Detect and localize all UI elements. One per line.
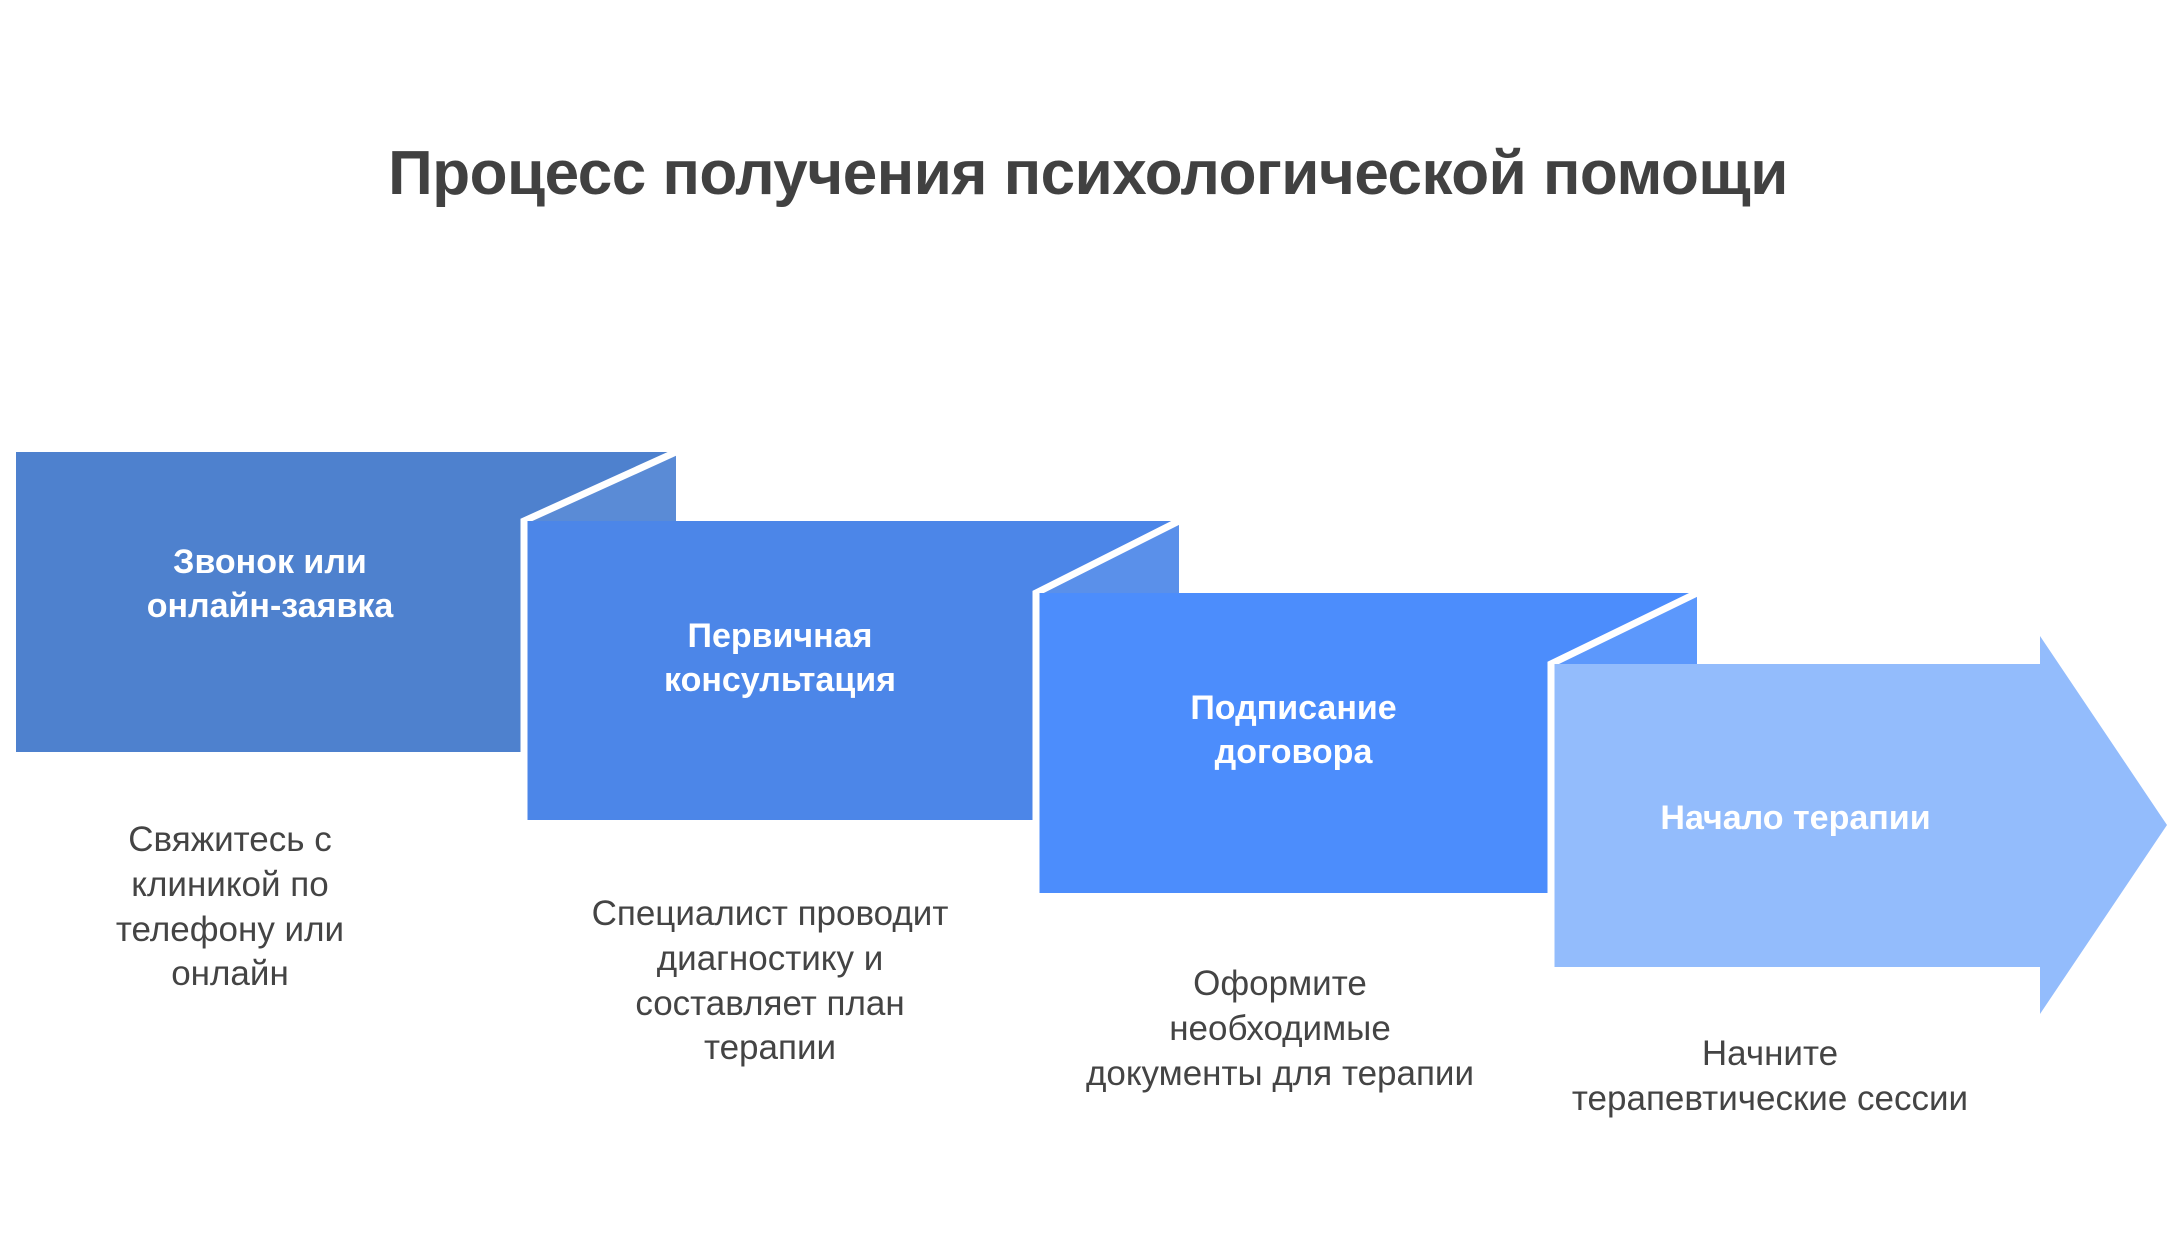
process-step-2-caption: Специалист проводит диагностику и состав…	[570, 892, 970, 1071]
process-step-1-caption: Свяжитесь с клиникой по телефону или онл…	[60, 818, 400, 997]
step-4-arrow-body	[1551, 636, 2167, 1014]
process-diagram: Звонок или онлайн-заявка Первичная консу…	[0, 0, 2176, 1256]
process-step-3-caption: Оформите необходимые документы для терап…	[1080, 962, 1480, 1096]
process-step-4-caption: Начните терапевтические сессии	[1570, 1032, 1970, 1122]
slide-canvas: Процесс получения психологической помощи	[0, 0, 2176, 1256]
process-step-4-shape[interactable]	[1551, 636, 2167, 1014]
